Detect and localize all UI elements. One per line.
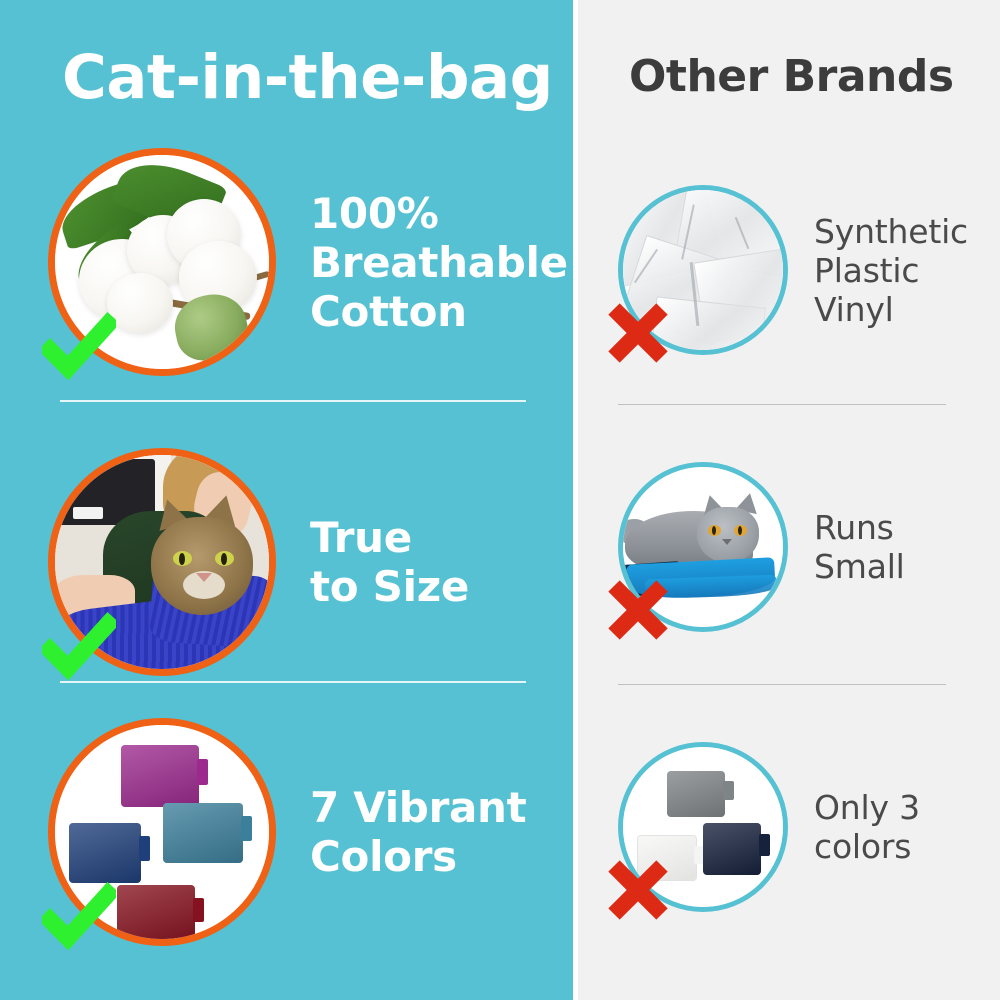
left-feature-label-1: 100% Breathable Cotton [310, 189, 568, 336]
left-feature-label-3: 7 Vibrant Colors [310, 783, 526, 881]
right-feature-label-3: Only 3 colors [814, 788, 920, 866]
right-column-heading: Other Brands [629, 48, 954, 106]
crumpled-plastic-sheets-photo [618, 185, 788, 355]
left-image-circle-1 [48, 148, 276, 376]
right-image-circle-3 [618, 742, 788, 912]
left-image-circle-2 [48, 448, 276, 676]
swatch-white [637, 835, 697, 881]
right-feature-row-2: Runs Small [618, 462, 988, 632]
four-folded-colored-bags-photo [48, 718, 276, 946]
swatch-purple [121, 745, 199, 807]
right-image-circle-1 [618, 185, 788, 355]
swatch-darknavy [703, 823, 761, 875]
left-feature-row-3: 7 Vibrant Colors [48, 718, 548, 946]
comparison-infographic: Cat-in-the-bag Other Brands [0, 0, 1000, 1000]
left-feature-row-2: True to Size [48, 448, 548, 676]
right-feature-row-1: Synthetic Plastic Vinyl [618, 185, 988, 355]
cat-in-blue-bag-photo [48, 448, 276, 676]
right-feature-row-3: Only 3 colors [618, 742, 988, 912]
right-image-circle-2 [618, 462, 788, 632]
left-divider-1 [60, 400, 526, 402]
swatch-maroon [117, 885, 195, 939]
cotton-bolls-photo [48, 148, 276, 376]
right-divider-1 [618, 404, 946, 405]
left-divider-2 [60, 681, 526, 683]
swatch-grey [667, 771, 725, 817]
left-image-circle-3 [48, 718, 276, 946]
right-feature-label-1: Synthetic Plastic Vinyl [814, 212, 968, 329]
swatch-teal [163, 803, 243, 863]
three-folded-bags-photo [618, 742, 788, 912]
swatch-navy [69, 823, 141, 883]
left-feature-label-2: True to Size [310, 513, 469, 611]
left-column-heading: Cat-in-the-bag [62, 42, 553, 114]
grey-cat-in-blue-bag-photo [618, 462, 788, 632]
left-feature-row-1: 100% Breathable Cotton [48, 148, 548, 376]
right-feature-label-2: Runs Small [814, 508, 905, 586]
right-divider-2 [618, 684, 946, 685]
